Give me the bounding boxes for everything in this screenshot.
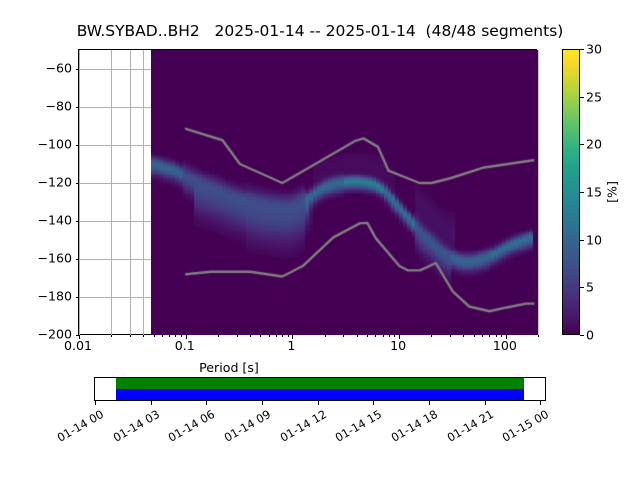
x-tick: [218, 335, 219, 337]
timeline-axes: [94, 377, 546, 401]
y-tick-label: −80: [45, 99, 72, 114]
y-tick: [76, 107, 80, 108]
x-tick: [237, 335, 238, 337]
x-tick: [260, 335, 261, 337]
x-tick: [325, 335, 326, 337]
y-tick: [76, 297, 80, 298]
x-tick: [162, 335, 163, 337]
y-tick-label: −120: [37, 175, 72, 190]
gridline-vertical: [111, 50, 112, 335]
x-tick-label: 0.01: [64, 338, 92, 353]
y-tick-label: −60: [45, 61, 72, 76]
y-tick-label: −160: [37, 251, 72, 266]
y-tick-label: −100: [37, 137, 72, 152]
gridline-vertical: [79, 50, 80, 335]
gridline-vertical: [130, 50, 131, 335]
x-tick: [282, 335, 283, 337]
x-tick: [496, 335, 497, 337]
x-tick: [143, 335, 144, 337]
x-tick: [111, 335, 112, 337]
colorbar-tick: [580, 287, 584, 288]
x-tick: [538, 335, 539, 337]
timeline-tick-labels: 01-14 0001-14 0301-14 0601-14 0901-14 12…: [0, 401, 640, 471]
x-tick: [269, 335, 270, 337]
y-tick-label: −140: [37, 213, 72, 228]
y-tick: [76, 221, 80, 222]
x-tick: [501, 335, 502, 337]
x-tick: [431, 335, 432, 337]
x-tick-label: 1: [287, 338, 295, 353]
x-tick: [389, 335, 390, 337]
colorbar-tick-label: 15: [586, 185, 602, 200]
colorbar-tick-label: 20: [586, 137, 602, 152]
colorbar-tick: [580, 144, 584, 145]
ppsd-histogram-region: [151, 50, 538, 335]
colorbar-tick-label: 5: [586, 280, 594, 295]
x-tick: [474, 335, 475, 337]
colorbar-tick-label: 30: [586, 42, 602, 57]
colorbar-tick: [580, 192, 584, 193]
x-tick: [489, 335, 490, 337]
gridline-vertical: [538, 50, 539, 335]
x-tick: [169, 335, 170, 337]
x-tick-label: 0.1: [175, 338, 195, 353]
x-tick: [175, 335, 176, 337]
x-tick: [130, 335, 131, 337]
colorbar: [562, 49, 580, 335]
x-tick: [288, 335, 289, 337]
x-tick: [450, 335, 451, 337]
y-tick: [76, 145, 80, 146]
y-tick: [76, 183, 80, 184]
x-axis-tick-labels: 0.010.1110100: [78, 338, 537, 360]
x-tick: [250, 335, 251, 337]
x-axis-title: Period [s]: [199, 360, 259, 375]
colorbar-tick: [580, 335, 584, 336]
x-tick: [375, 335, 376, 337]
x-tick: [181, 335, 182, 337]
y-tick: [76, 69, 80, 70]
y-axis-tick-labels: −60−80−100−120−140−160−180−200: [8, 49, 72, 335]
colorbar-tick: [580, 49, 584, 50]
page-title: BW.SYBAD..BH2 2025-01-14 -- 2025-01-14 (…: [0, 22, 640, 40]
colorbar-title: [%]: [605, 181, 620, 203]
colorbar-tick: [580, 97, 584, 98]
x-tick: [463, 335, 464, 337]
x-tick: [383, 335, 384, 337]
colorbar-tick-label: 10: [586, 232, 602, 247]
y-tick-label: −180: [37, 289, 72, 304]
colorbar-tick: [580, 240, 584, 241]
x-tick: [276, 335, 277, 337]
colorbar-tick-label: 25: [586, 89, 602, 104]
x-tick: [367, 335, 368, 337]
gridline-vertical: [143, 50, 144, 335]
x-tick: [154, 335, 155, 337]
y-tick: [76, 259, 80, 260]
y-tick: [76, 335, 80, 336]
timeline-segment-data-coverage: [116, 378, 524, 389]
x-tick-label: 10: [390, 338, 406, 353]
colorbar-gradient: [563, 50, 579, 334]
x-tick: [482, 335, 483, 337]
x-tick: [357, 335, 358, 337]
x-tick: [343, 335, 344, 337]
x-tick-label: 100: [493, 338, 517, 353]
noise-model-curves-canvas: [151, 50, 538, 335]
x-tick: [394, 335, 395, 337]
ppsd-figure: BW.SYBAD..BH2 2025-01-14 -- 2025-01-14 (…: [0, 0, 640, 480]
ppsd-main-axes: [78, 49, 537, 335]
timeline-segment-psd-coverage: [116, 389, 524, 400]
colorbar-tick-label: 0: [586, 328, 594, 343]
